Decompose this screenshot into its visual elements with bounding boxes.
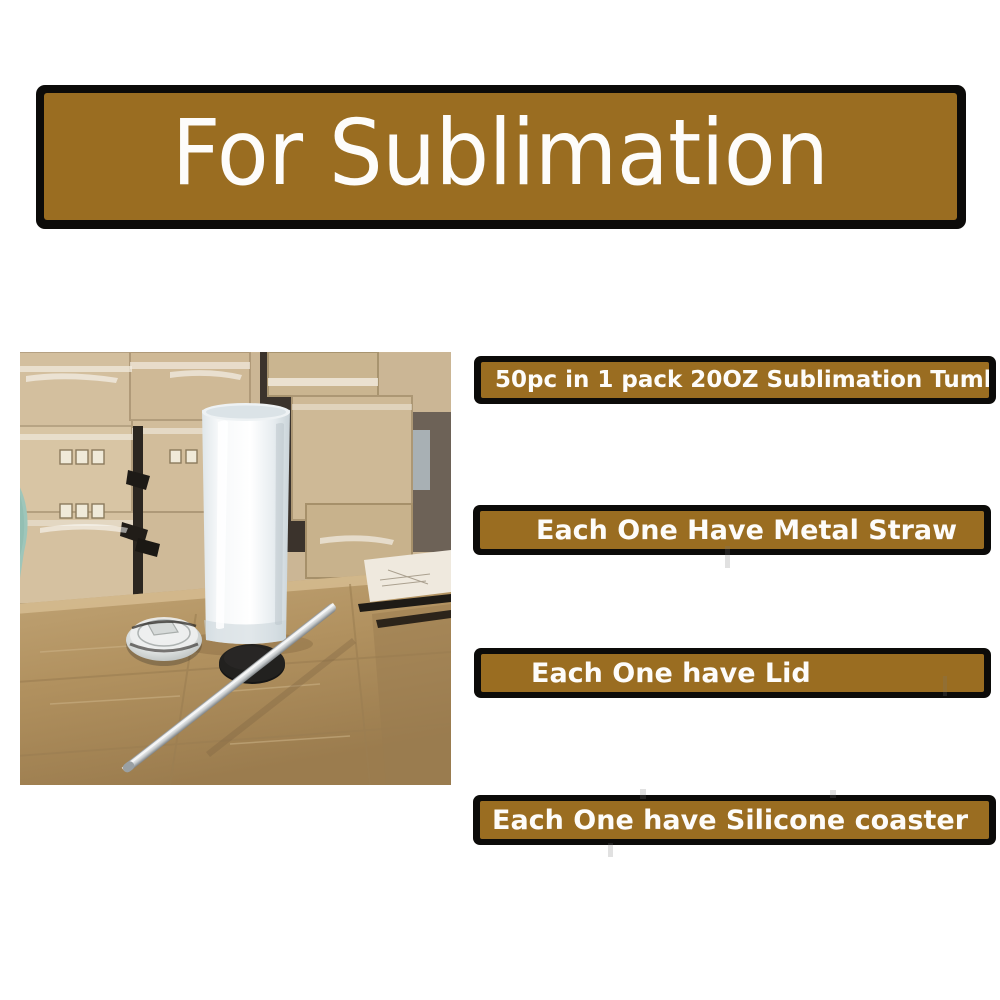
scan-artifact-5 [608,843,613,857]
feature-label-1: 50pc in 1 pack 20OZ Sublimation Tumblers [481,369,989,392]
feature-banner-1: 50pc in 1 pack 20OZ Sublimation Tumblers [474,356,996,404]
title-banner: For Sublimation [36,85,966,229]
feature-banner-1-fill: 50pc in 1 pack 20OZ Sublimation Tumblers [481,362,989,398]
feature-label-4: Each One have Silicone coaster [480,807,968,834]
title-banner-fill: For Sublimation [44,93,957,220]
feature-label-3: Each One have Lid [481,660,811,687]
feature-label-2: Each One Have Metal Straw [480,517,957,544]
product-photo-illustration [20,352,451,785]
feature-banner-2-fill: Each One Have Metal Straw [480,511,984,549]
feature-banner-3: Each One have Lid [474,648,991,698]
page-title: For Sublimation [172,108,829,205]
feature-banner-2: Each One Have Metal Straw [473,505,991,555]
feature-banner-4-fill: Each One have Silicone coaster [480,801,989,839]
feature-banner-4: Each One have Silicone coaster [473,795,996,845]
feature-banner-3-fill: Each One have Lid [481,654,984,692]
product-photo [20,352,451,785]
